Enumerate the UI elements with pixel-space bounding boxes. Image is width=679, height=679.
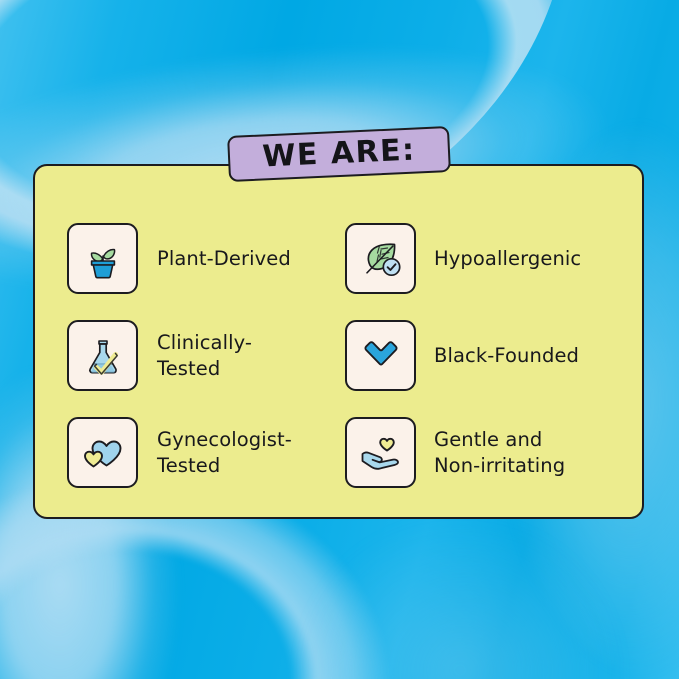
- feature-black-founded: Black-Founded: [323, 307, 642, 404]
- flask-check-icon-svg: [80, 333, 126, 379]
- features-card: Plant-Derived Hypoallergenic: [33, 164, 644, 519]
- features-grid: Plant-Derived Hypoallergenic: [35, 166, 642, 517]
- two-hearts-icon: [67, 417, 138, 488]
- feature-clinically-tested: Clinically- Tested: [35, 307, 323, 404]
- feature-label: Gentle and Non-irritating: [434, 427, 565, 478]
- flask-check-icon: [67, 320, 138, 391]
- angular-heart-icon-svg: [357, 332, 405, 380]
- feature-hypoallergenic: Hypoallergenic: [323, 210, 642, 307]
- banner-title: WE ARE:: [262, 136, 417, 173]
- angular-heart-icon: [345, 320, 416, 391]
- potted-plant-icon-svg: [80, 236, 126, 282]
- leaf-check-icon-svg: [357, 235, 405, 283]
- feature-label: Black-Founded: [434, 343, 579, 369]
- feature-label: Hypoallergenic: [434, 246, 581, 272]
- leaf-check-icon: [345, 223, 416, 294]
- promo-graphic: Plant-Derived Hypoallergenic: [0, 0, 679, 679]
- feature-label: Gynecologist- Tested: [157, 427, 292, 478]
- potted-plant-icon: [67, 223, 138, 294]
- two-hearts-icon-svg: [79, 429, 127, 477]
- hand-heart-icon-svg: [357, 429, 405, 477]
- feature-label: Plant-Derived: [157, 246, 291, 272]
- feature-label: Clinically- Tested: [157, 330, 252, 381]
- feature-gynecologist-tested: Gynecologist- Tested: [35, 404, 323, 501]
- feature-gentle-non-irritating: Gentle and Non-irritating: [323, 404, 642, 501]
- hand-heart-icon: [345, 417, 416, 488]
- feature-plant-derived: Plant-Derived: [35, 210, 323, 307]
